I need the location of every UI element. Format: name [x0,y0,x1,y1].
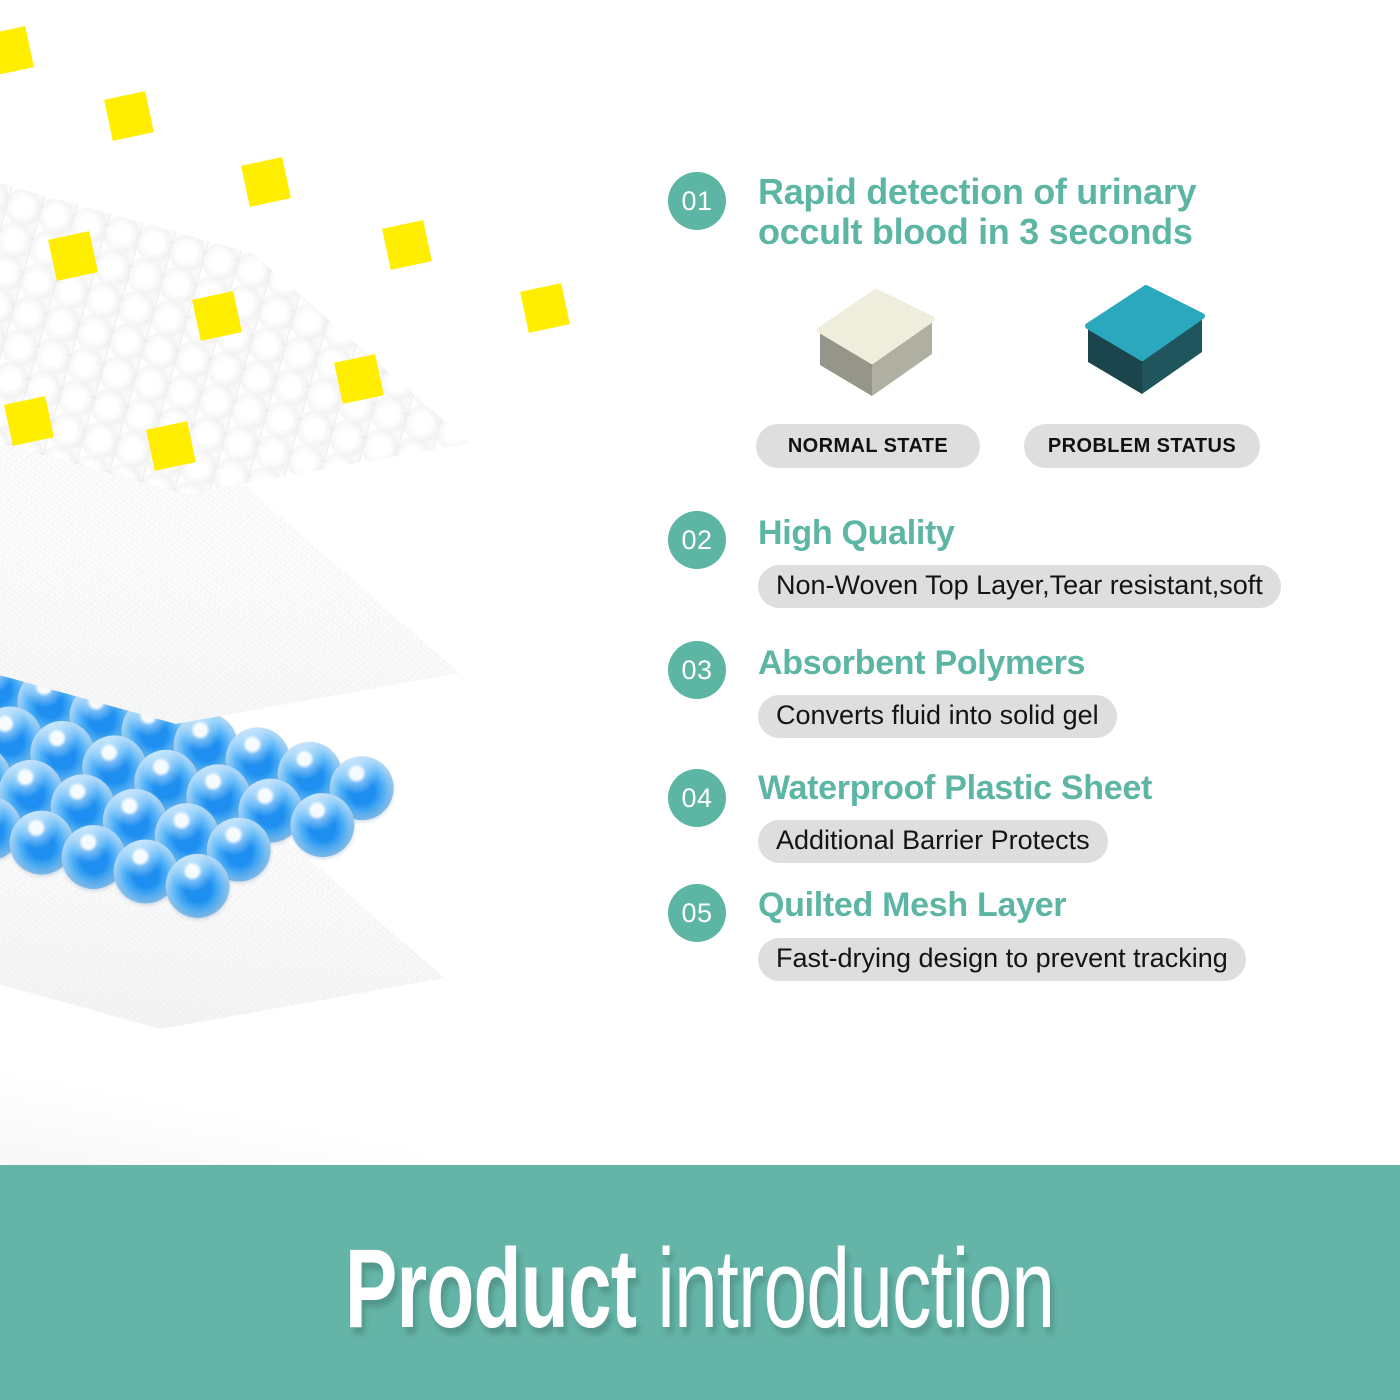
yellow-indicator-square [104,91,154,141]
feature-subtitle-04: Additional Barrier Protects [758,820,1108,863]
yellow-indicator-square [48,231,98,281]
feature-number-badge-05: 05 [668,884,726,942]
features-column: 01 Rapid detection of urinary occult blo… [668,0,1388,1165]
feature-subtitle-05: Fast-drying design to prevent tracking [758,938,1246,981]
yellow-indicator-square [334,354,384,404]
normal-state-label: NORMAL STATE [756,424,980,468]
infographic-stage: 01 Rapid detection of urinary occult blo… [0,0,1400,1400]
banner-title-bold: Product [345,1226,636,1351]
feature-number-badge-01: 01 [668,172,726,230]
yellow-indicator-square [192,291,242,341]
feature-title-02: High Quality [758,515,955,552]
feature-title-05: Quilted Mesh Layer [758,887,1066,924]
feature-title-04: Waterproof Plastic Sheet [758,770,1152,807]
feature-number-badge-03: 03 [668,641,726,699]
yellow-indicator-square [4,396,54,446]
problem-status-cube-icon [1074,268,1224,398]
banner-title-light: introduction [658,1226,1055,1351]
feature-title-03: Absorbent Polymers [758,645,1085,682]
feature-subtitle-02: Non-Woven Top Layer,Tear resistant,soft [758,565,1281,608]
product-layer-illustration [0,0,760,1210]
problem-status-label: PROBLEM STATUS [1024,424,1260,468]
feature-number-badge-04: 04 [668,769,726,827]
normal-state-cube-icon [800,270,950,400]
feature-number-badge-02: 02 [668,511,726,569]
feature-subtitle-03: Converts fluid into solid gel [758,695,1117,738]
yellow-indicator-square [382,220,432,270]
yellow-indicator-square [146,421,196,471]
bottom-banner: Product introduction [0,1165,1400,1400]
yellow-indicator-square [241,157,291,207]
banner-title: Product introduction [345,1233,1054,1345]
yellow-indicator-square [0,26,34,76]
yellow-indicator-square [520,283,570,333]
feature-title-01: Rapid detection of urinary occult blood … [758,172,1196,251]
